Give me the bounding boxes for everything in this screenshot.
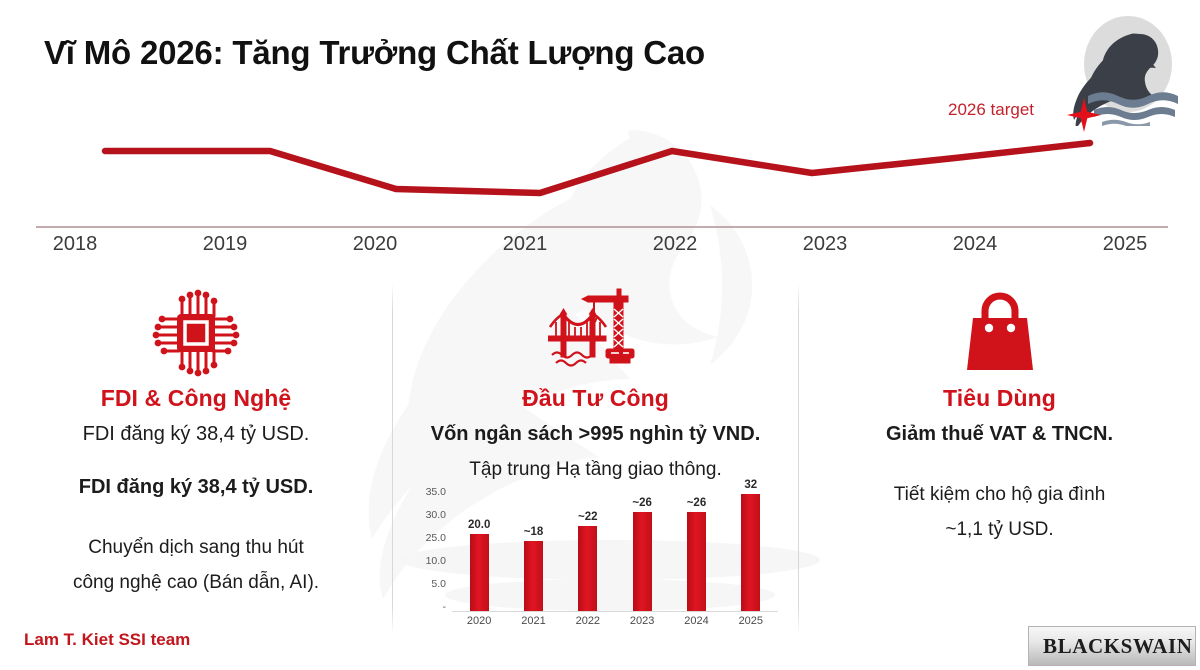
column-public-investment: Đầu Tư Công Vốn ngân sách >995 nghìn tỷ … [393,283,798,483]
column-title-consumption: Tiêu Dùng [799,385,1200,412]
bar-column: ~22 [561,486,615,611]
column-fdi-line-1: FDI đăng ký 38,4 tỷ USD. [0,421,392,448]
bar-2020: 20.0 [470,534,489,612]
column-fdi-line-3: Chuyển dịch sang thu hút [0,535,392,561]
axis-year: 2025 [1050,233,1200,263]
shopping-bag-icon-wrap [799,287,1200,379]
bar-2024: ~26 [687,512,706,611]
axis-year: 2024 [900,233,1050,263]
axis-year: 2021 [450,233,600,263]
microchip-icon-wrap [0,287,392,379]
axis-year: 2019 [150,233,300,263]
bar-value-label: ~22 [578,511,598,523]
column-fdi-line-4: công nghệ cao (Bán dẫn, AI). [0,570,392,596]
bar-x-tick: 2021 [506,615,560,627]
bar-value-label: ~26 [687,497,707,509]
bar-y-tick: 25.0 [426,532,446,544]
bar-column: 20.0 [452,486,506,611]
column-pi-line-2: Tập trung Hạ tầng giao thông. [393,457,798,483]
microchip-icon [152,289,240,377]
bar-x-tick: 2024 [669,615,723,627]
bar-column: ~26 [615,486,669,611]
bar-x-tick: 2025 [724,615,778,627]
axis-year: 2018 [0,233,150,263]
line-chart-x-axis: 2018 2019 2020 2021 2022 2023 2024 2025 [0,233,1200,263]
column-consumption: Tiêu Dùng Giảm thuế VAT & TNCN. Tiết kiệ… [799,283,1200,542]
axis-year: 2020 [300,233,450,263]
bridge-crane-icon [548,287,644,379]
bar-y-tick: 10.0 [426,555,446,567]
bar-column: ~18 [506,486,560,611]
bar-2023: ~26 [633,512,652,611]
bar-chart-y-axis: 35.0 30.0 25.0 10.0 5.0 - [406,486,446,612]
bar-x-tick: 2023 [615,615,669,627]
column-fdi-line-2: FDI đăng ký 38,4 tỷ USD. [0,474,392,501]
bar-value-label: 32 [744,479,757,491]
blackswain-brand-badge: BLACKSWAIN [1028,626,1196,666]
bar-2022: ~22 [578,526,597,611]
bar-2021: ~18 [524,541,543,611]
axis-year: 2022 [600,233,750,263]
column-cons-line-3: ~1,1 tỷ USD. [799,517,1200,543]
bar-chart-x-axis: 2020 2021 2022 2023 2024 2025 [452,615,778,627]
bar-value-label: 20.0 [468,519,490,531]
shopping-bag-icon [961,290,1039,376]
column-pi-line-1: Vốn ngân sách >995 nghìn tỷ VND. [393,421,798,448]
public-investment-bar-chart: 35.0 30.0 25.0 10.0 5.0 - 20.0 ~18 ~22 ~… [406,486,782,636]
bar-x-tick: 2020 [452,615,506,627]
column-fdi: FDI & Công Nghệ FDI đăng ký 38,4 tỷ USD.… [0,283,392,595]
column-cons-line-1: Giảm thuế VAT & TNCN. [799,421,1200,448]
axis-year: 2023 [750,233,900,263]
bar-y-tick: - [443,601,447,613]
bar-y-tick: 35.0 [426,486,446,498]
four-point-star-icon [1066,97,1102,133]
infographic-root: Vĩ Mô 2026: Tăng Trưởng Chất Lượng Cao 2… [0,0,1200,670]
column-title-fdi: FDI & Công Nghệ [0,385,392,412]
page-title: Vĩ Mô 2026: Tăng Trưởng Chất Lượng Cao [44,34,705,72]
line-chart-baseline [0,225,1200,229]
bar-2025: 32 [741,494,760,612]
bar-y-tick: 30.0 [426,509,446,521]
bar-value-label: ~26 [632,497,652,509]
credit-text: Lam T. Kiet SSI team [24,630,190,650]
bar-value-label: ~18 [524,526,544,538]
brand-name: BLACKSWAIN [1043,634,1193,659]
column-cons-line-2: Tiết kiệm cho hộ gia đình [799,482,1200,508]
bar-chart-plot-area: 20.0 ~18 ~22 ~26 ~26 32 [452,486,778,612]
column-title-public-investment: Đầu Tư Công [393,385,798,412]
bar-chart-bars: 20.0 ~18 ~22 ~26 ~26 32 [452,486,778,611]
target-annotation-label: 2026 target [948,100,1034,120]
bar-column: 32 [724,486,778,611]
bar-y-tick: 5.0 [431,578,446,590]
bar-x-tick: 2022 [561,615,615,627]
bar-column: ~26 [669,486,723,611]
bridge-crane-icon-wrap [393,287,798,379]
